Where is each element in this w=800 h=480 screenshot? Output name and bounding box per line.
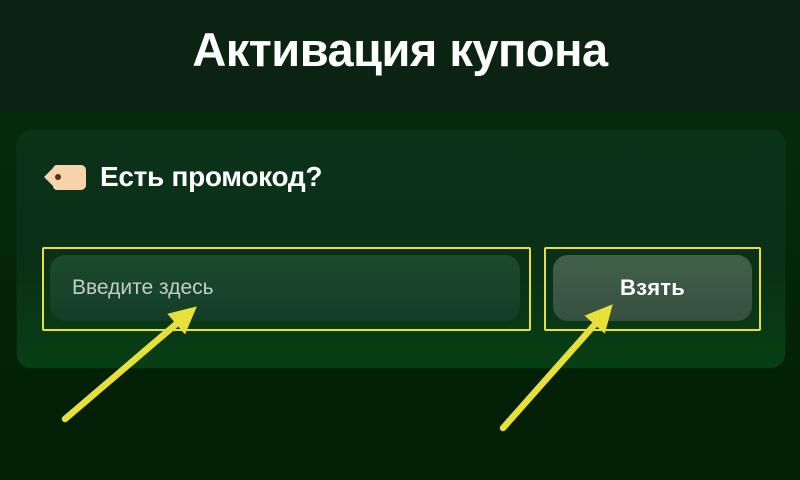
take-button[interactable]: Взять	[553, 255, 752, 321]
page-header: Активация купона	[0, 0, 800, 112]
promo-card-header: Есть промокод?	[44, 161, 322, 193]
page-title: Активация купона	[0, 22, 800, 78]
promo-code-card: Есть промокод?	[17, 130, 785, 368]
app-screen: Активация купона Есть промокод? Взять	[0, 0, 800, 480]
price-tag-hole	[55, 174, 61, 180]
promo-question-label: Есть промокод?	[100, 161, 322, 193]
price-tag-icon	[44, 165, 86, 190]
promo-code-input[interactable]	[50, 255, 520, 321]
